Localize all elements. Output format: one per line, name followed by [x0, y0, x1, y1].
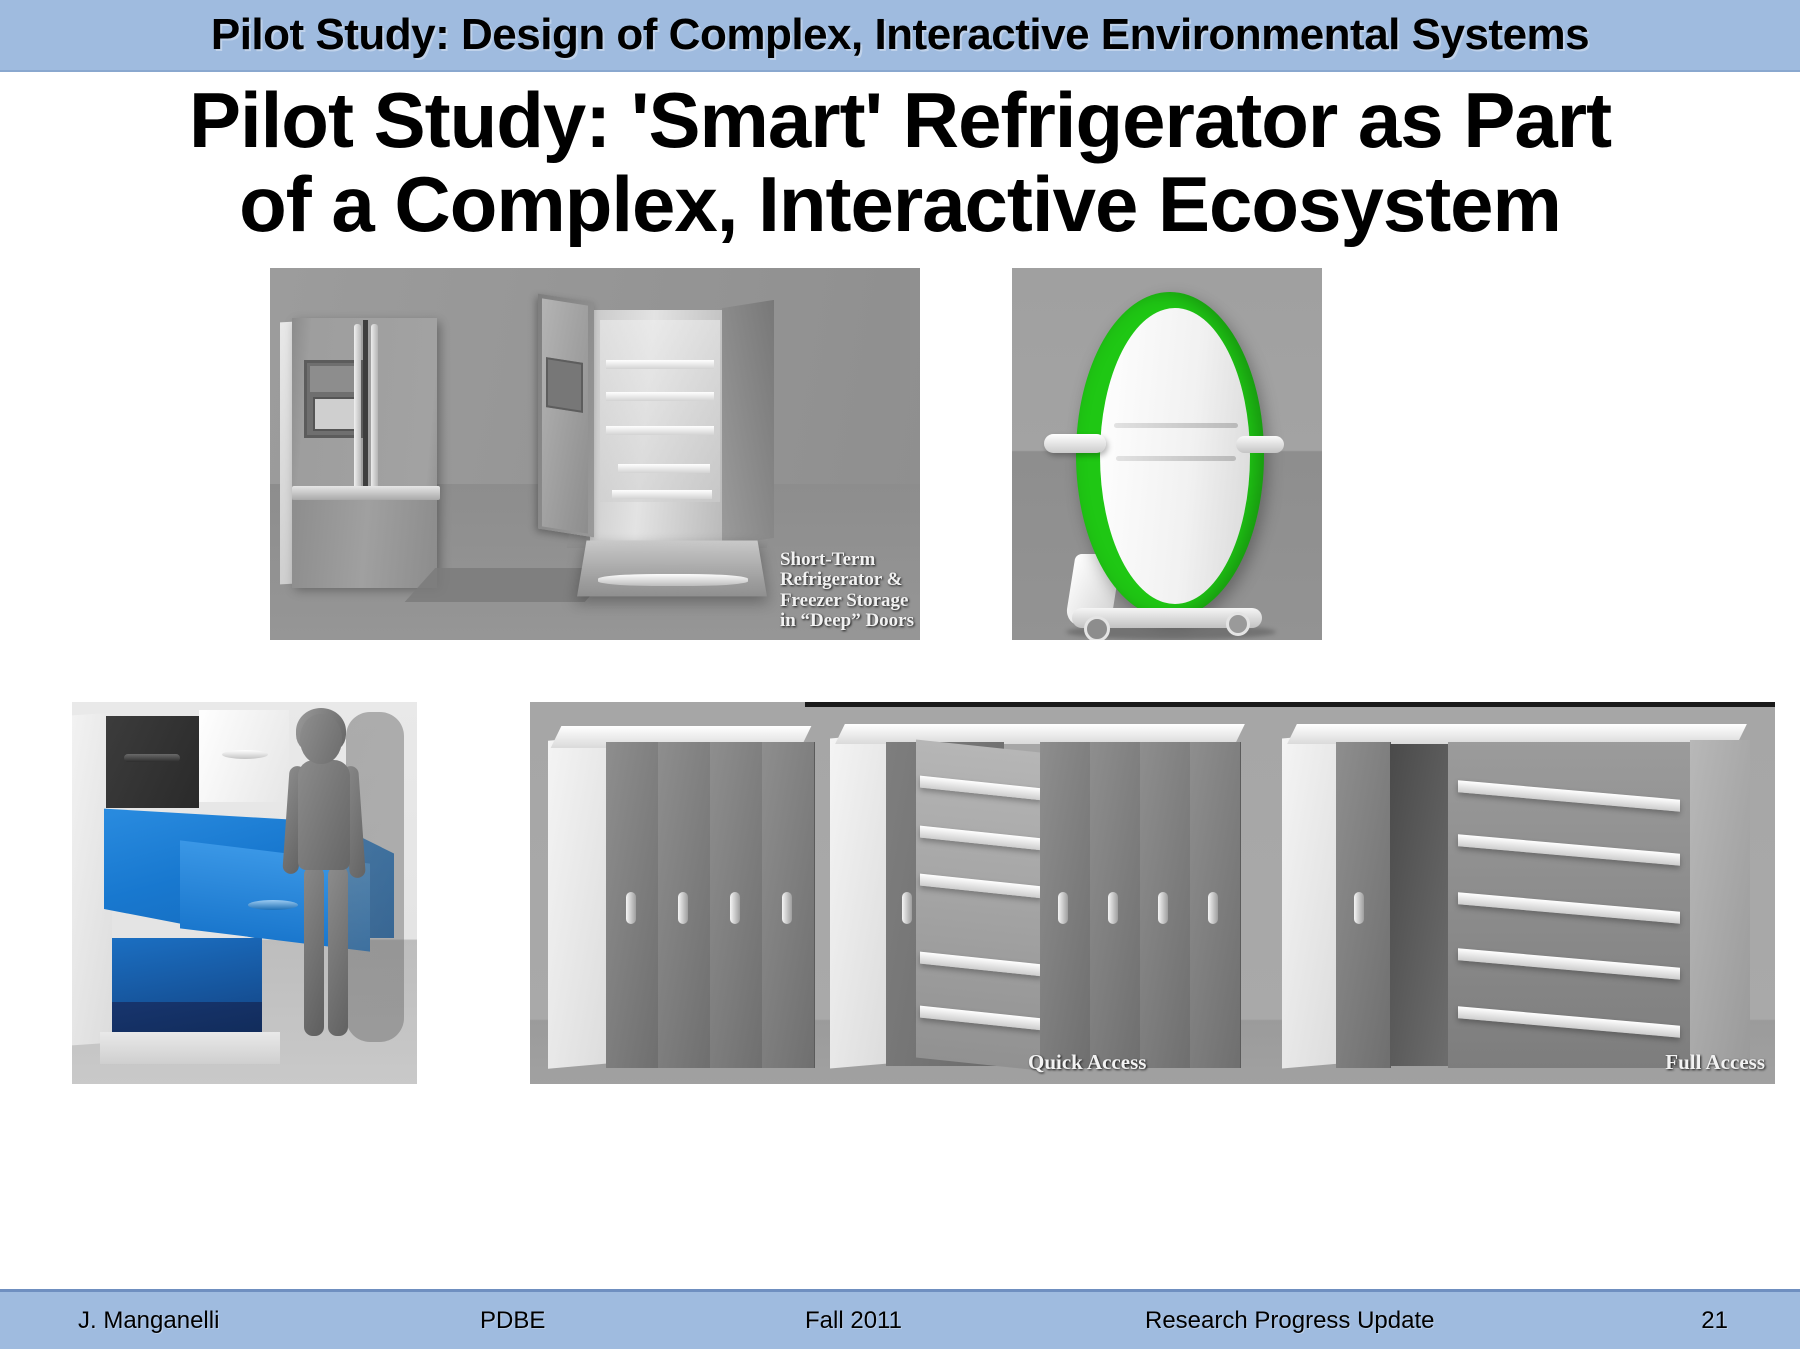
- caption-line: Short-Term: [780, 550, 914, 571]
- footer-page-number: 21: [1701, 1307, 1728, 1335]
- cabinet-door-handle: [782, 892, 792, 924]
- open-fridge-freezer-drawer: [577, 541, 767, 597]
- cabinet-door-handle: [678, 892, 688, 924]
- open-fridge-door-right: [722, 300, 774, 546]
- cabinet-side-case: [1282, 733, 1340, 1068]
- cabinet-right-wall: [1690, 740, 1750, 1068]
- caption-line: Refrigerator &: [780, 570, 914, 591]
- slide-footer-band: J. Manganelli PDBE Fall 2011 Research Pr…: [0, 1289, 1800, 1349]
- dispenser-recess: [313, 397, 357, 431]
- open-fridge-shelf: [606, 392, 714, 401]
- open-fridge-shelf: [618, 464, 710, 473]
- closed-fridge-handle-right: [371, 324, 378, 492]
- footer-author: J. Manganelli: [78, 1307, 219, 1335]
- drawer-black-handle: [124, 754, 180, 762]
- human-figure-leg-left: [304, 866, 324, 1036]
- footer-course: PDBE: [480, 1307, 545, 1335]
- cabinet-side-case: [830, 733, 888, 1068]
- closed-fridge-freezer-drawer: [292, 500, 437, 588]
- figure-blue-drawer: [72, 702, 417, 1084]
- open-fridge-dispenser: [546, 357, 583, 413]
- cabinet-door-handle: [1158, 892, 1168, 924]
- dispenser-display: [310, 366, 356, 392]
- human-figure-leg-right: [328, 866, 348, 1036]
- open-fridge-shelf: [606, 360, 714, 369]
- cabinet-full-access: [1282, 720, 1754, 1068]
- figure-grid: Short-Term Refrigerator & Freezer Storag…: [0, 0, 1800, 1349]
- caption-line: Freezer Storage: [780, 591, 914, 612]
- figure-cabinet-access-comparison: Quick Access Full Access: [530, 702, 1775, 1084]
- cabinet-side-case: [548, 735, 610, 1068]
- human-figure-head: [300, 714, 342, 764]
- cabinet-door-handle: [626, 892, 636, 924]
- figure-oval-refrigerator: [1012, 268, 1322, 640]
- cabinet-door-handle: [902, 892, 912, 924]
- oval-fridge-caster-right: [1226, 612, 1250, 636]
- cabinet-top-panel: [835, 724, 1245, 744]
- cabinet-quick-access: [830, 720, 1250, 1068]
- cabinet-closed: [548, 720, 806, 1068]
- cabinet-render-top-rule: [805, 702, 1775, 707]
- cabinet-door-handle: [1108, 892, 1118, 924]
- cabinet-door-handle: [1058, 892, 1068, 924]
- drawer-cabinet-base: [100, 1032, 280, 1064]
- closed-fridge-freezer-lip: [292, 486, 440, 500]
- figure-refrigerator-pair: Short-Term Refrigerator & Freezer Storag…: [270, 268, 920, 640]
- oval-fridge-door-seam: [1114, 423, 1238, 428]
- cabinet-door-handle: [730, 892, 740, 924]
- figure-caption-quick-access: Quick Access: [1028, 1051, 1146, 1074]
- open-fridge-shelf: [612, 490, 712, 499]
- human-figure-torso: [298, 760, 350, 870]
- closed-fridge-door-gap: [363, 320, 368, 490]
- drawer-white-handle: [222, 750, 268, 759]
- oval-fridge-handle-left: [1044, 434, 1106, 453]
- cabinet-door-handle: [1208, 892, 1218, 924]
- footer-document-kind: Research Progress Update: [1145, 1307, 1434, 1335]
- cabinet-top-panel: [1287, 724, 1747, 744]
- cabinet-door-cavity-shadow: [1390, 744, 1448, 1066]
- figure-caption-full-access: Full Access: [1665, 1051, 1765, 1074]
- oval-fridge-caster-left: [1084, 616, 1110, 640]
- closed-fridge-handle-left: [354, 324, 361, 492]
- oval-fridge-door-seam: [1116, 456, 1236, 461]
- drawer-black-front: [106, 716, 199, 808]
- open-fridge-shelf: [606, 426, 714, 435]
- open-fridge-door-left-inner: [542, 298, 588, 533]
- open-fridge-freezer-drawer-lip: [598, 574, 748, 586]
- open-fridge-interior: [600, 320, 720, 502]
- drawer-blue-handle: [248, 900, 298, 910]
- cabinet-door-handle: [1354, 892, 1364, 924]
- figure-caption-deep-doors: Short-Term Refrigerator & Freezer Storag…: [780, 550, 914, 632]
- oval-fridge-handle-right: [1236, 436, 1284, 453]
- footer-term: Fall 2011: [805, 1307, 902, 1335]
- caption-line: in “Deep” Doors: [780, 611, 914, 632]
